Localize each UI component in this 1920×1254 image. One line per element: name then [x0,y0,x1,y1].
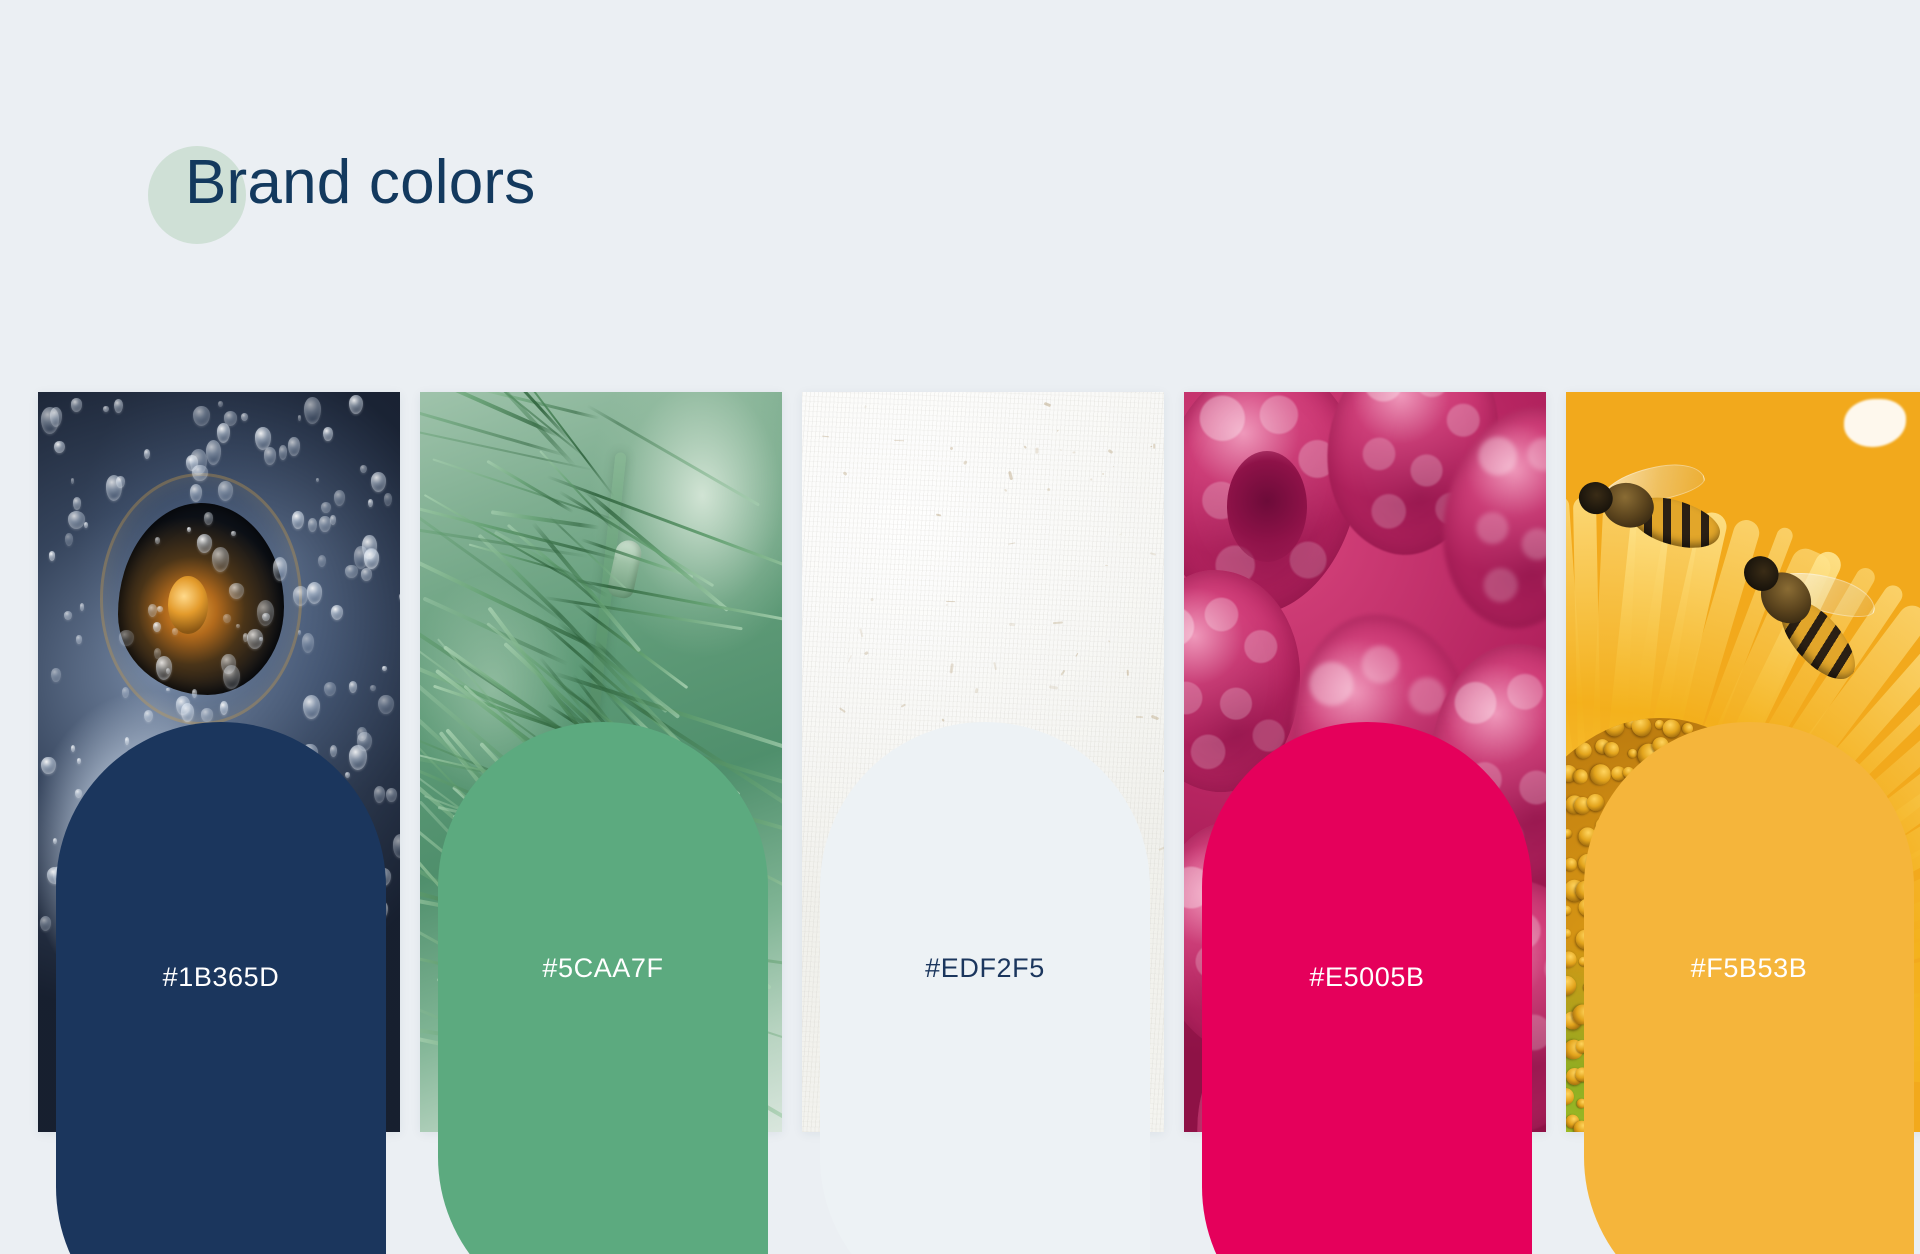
color-swatch-shape[interactable]: #5CAA7F [438,722,768,1254]
color-hex-label: #1B365D [163,964,280,991]
color-hex-label: #5CAA7F [542,955,663,982]
page-title: Brand colors [185,152,535,214]
color-hex-label: #F5B53B [1691,955,1808,982]
brand-color-swatch-row: #1B365D #5CAA7F #EDF2F5 [0,392,1920,1192]
page-title-block: Brand colors [148,128,535,238]
color-swatch-shape[interactable]: #E5005B [1202,722,1532,1254]
color-hex-label: #E5005B [1309,964,1424,991]
color-swatch-shape[interactable]: #EDF2F5 [820,722,1150,1254]
color-swatch-shape[interactable]: #F5B53B [1584,722,1914,1254]
color-hex-label: #EDF2F5 [925,955,1045,982]
color-swatch-shape[interactable]: #1B365D [56,722,386,1254]
